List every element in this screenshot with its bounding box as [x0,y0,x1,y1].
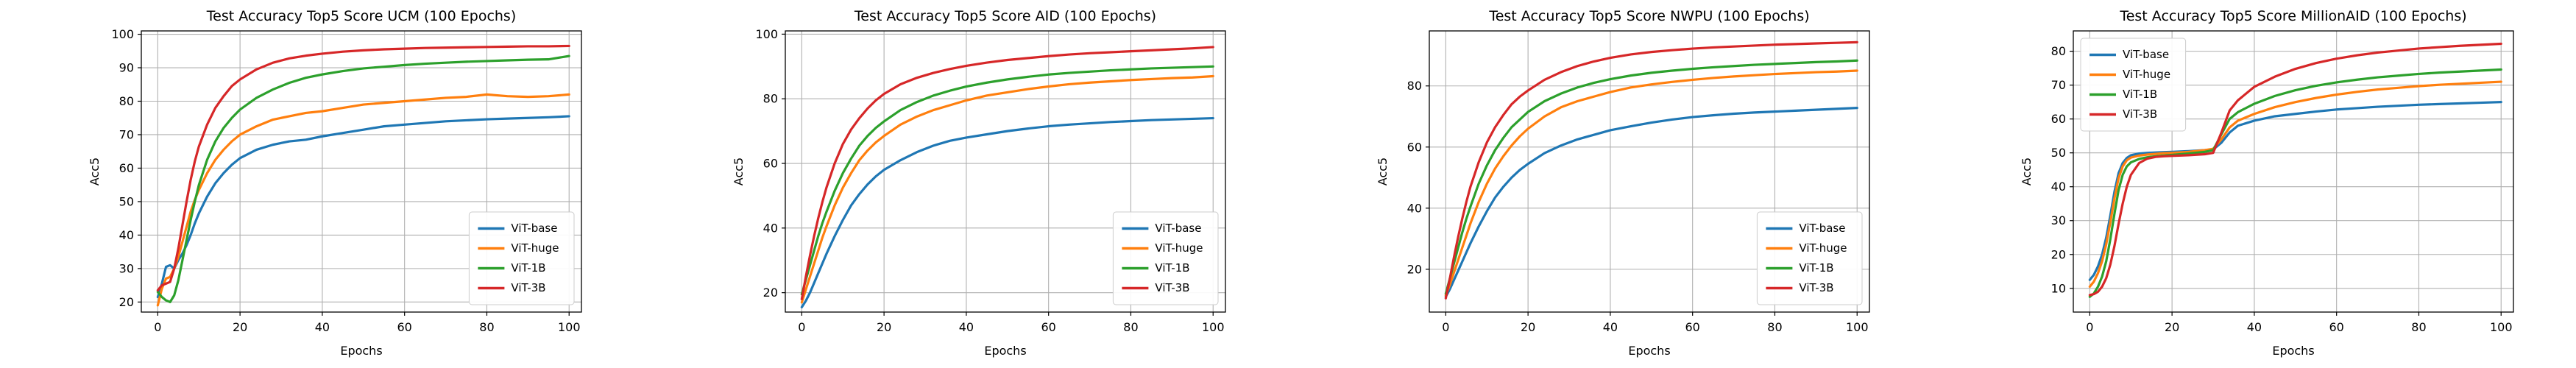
x-tick-label: 0 [2086,320,2093,334]
chart-title: Test Accuracy Top5 Score NWPU (100 Epoch… [1488,8,1809,24]
legend-label: ViT-base [511,222,557,235]
y-tick-label: 60 [119,161,134,175]
x-tick-label: 80 [479,320,494,334]
y-tick-label: 20 [1407,262,1422,276]
legend-label: ViT-base [2123,48,2169,61]
y-tick-label: 70 [2051,78,2066,92]
y-tick-label: 60 [2051,112,2066,126]
x-tick-label: 60 [1685,320,1700,334]
legend[interactable]: ViT-baseViT-hugeViT-1BViT-3B [469,212,574,305]
legend-label: ViT-huge [1155,241,1203,255]
x-tick-label: 60 [397,320,412,334]
chart-panel-4: 1020304050607080020406080100EpochsAcc5Te… [1932,0,2576,368]
y-tick-label: 60 [763,157,778,171]
y-tick-label: 60 [1407,140,1422,154]
legend-label: ViT-3B [2123,107,2157,121]
x-tick-label: 100 [558,320,581,334]
legend-label: ViT-1B [1799,261,1833,275]
legend[interactable]: ViT-baseViT-hugeViT-1BViT-3B [2081,38,2186,131]
legend-label: ViT-1B [1155,261,1189,275]
x-tick-label: 100 [1846,320,1869,334]
chart-panel-3: 20406080020406080100EpochsAcc5Test Accur… [1288,0,1932,368]
legend-label: ViT-huge [511,241,559,255]
x-axis-label: Epochs [2272,344,2314,358]
y-tick-label: 20 [2051,247,2066,261]
x-tick-label: 20 [877,320,891,334]
y-tick-label: 30 [119,261,134,275]
y-tick-label: 40 [1407,201,1422,215]
y-tick-label: 30 [2051,213,2066,227]
legend-label: ViT-base [1155,222,1201,235]
x-tick-label: 80 [2411,320,2426,334]
y-tick-label: 70 [119,127,134,141]
x-tick-label: 60 [2329,320,2344,334]
legend-label: ViT-base [1799,222,1845,235]
y-tick-label: 40 [763,221,778,235]
x-tick-label: 100 [1202,320,1225,334]
y-axis-label: Acc5 [2020,158,2034,185]
y-tick-label: 80 [763,92,778,106]
y-tick-label: 40 [2051,180,2066,194]
y-tick-label: 80 [2051,44,2066,58]
x-tick-label: 80 [1123,320,1138,334]
y-tick-label: 80 [1407,79,1422,93]
x-tick-label: 20 [1521,320,1535,334]
x-tick-label: 20 [233,320,247,334]
y-axis-label: Acc5 [88,158,102,185]
x-tick-label: 40 [959,320,974,334]
x-axis-label: Epochs [340,344,382,358]
y-tick-label: 10 [2051,281,2066,295]
legend-label: ViT-1B [2123,88,2157,101]
chart-title: Test Accuracy Top5 Score MillionAID (100… [2119,8,2466,24]
legend[interactable]: ViT-baseViT-hugeViT-1BViT-3B [1113,212,1218,305]
y-tick-label: 80 [119,94,134,108]
y-tick-label: 50 [119,194,134,208]
legend[interactable]: ViT-baseViT-hugeViT-1BViT-3B [1757,212,1862,305]
chart-title: Test Accuracy Top5 Score UCM (100 Epochs… [206,8,517,24]
y-tick-label: 100 [111,27,134,41]
y-tick-label: 100 [755,27,778,41]
x-tick-label: 0 [1442,320,1449,334]
legend-label: ViT-huge [1799,241,1847,255]
y-axis-label: Acc5 [1376,158,1390,185]
y-tick-label: 40 [119,228,134,242]
legend-label: ViT-3B [1799,281,1833,294]
legend-label: ViT-3B [511,281,545,294]
x-tick-label: 80 [1767,320,1782,334]
x-tick-label: 20 [2165,320,2179,334]
x-tick-label: 60 [1041,320,1056,334]
x-axis-label: Epochs [984,344,1026,358]
y-axis-label: Acc5 [732,158,746,185]
y-tick-label: 20 [119,295,134,309]
y-tick-label: 90 [119,61,134,75]
y-tick-label: 20 [763,286,778,300]
legend-label: ViT-huge [2123,68,2170,81]
y-tick-label: 50 [2051,146,2066,160]
x-tick-label: 40 [315,320,330,334]
chart-panel-2: 20406080100020406080100EpochsAcc5Test Ac… [644,0,1288,368]
x-tick-label: 0 [798,320,805,334]
figure-row: 2030405060708090100020406080100EpochsAcc… [0,0,2576,368]
x-tick-label: 40 [2247,320,2262,334]
chart-panel-1: 2030405060708090100020406080100EpochsAcc… [0,0,644,368]
x-tick-label: 100 [2490,320,2513,334]
x-tick-label: 0 [154,320,161,334]
chart-title: Test Accuracy Top5 Score AID (100 Epochs… [854,8,1156,24]
legend-label: ViT-3B [1155,281,1189,294]
x-axis-label: Epochs [1628,344,1670,358]
x-tick-label: 40 [1603,320,1618,334]
legend-label: ViT-1B [511,261,545,275]
